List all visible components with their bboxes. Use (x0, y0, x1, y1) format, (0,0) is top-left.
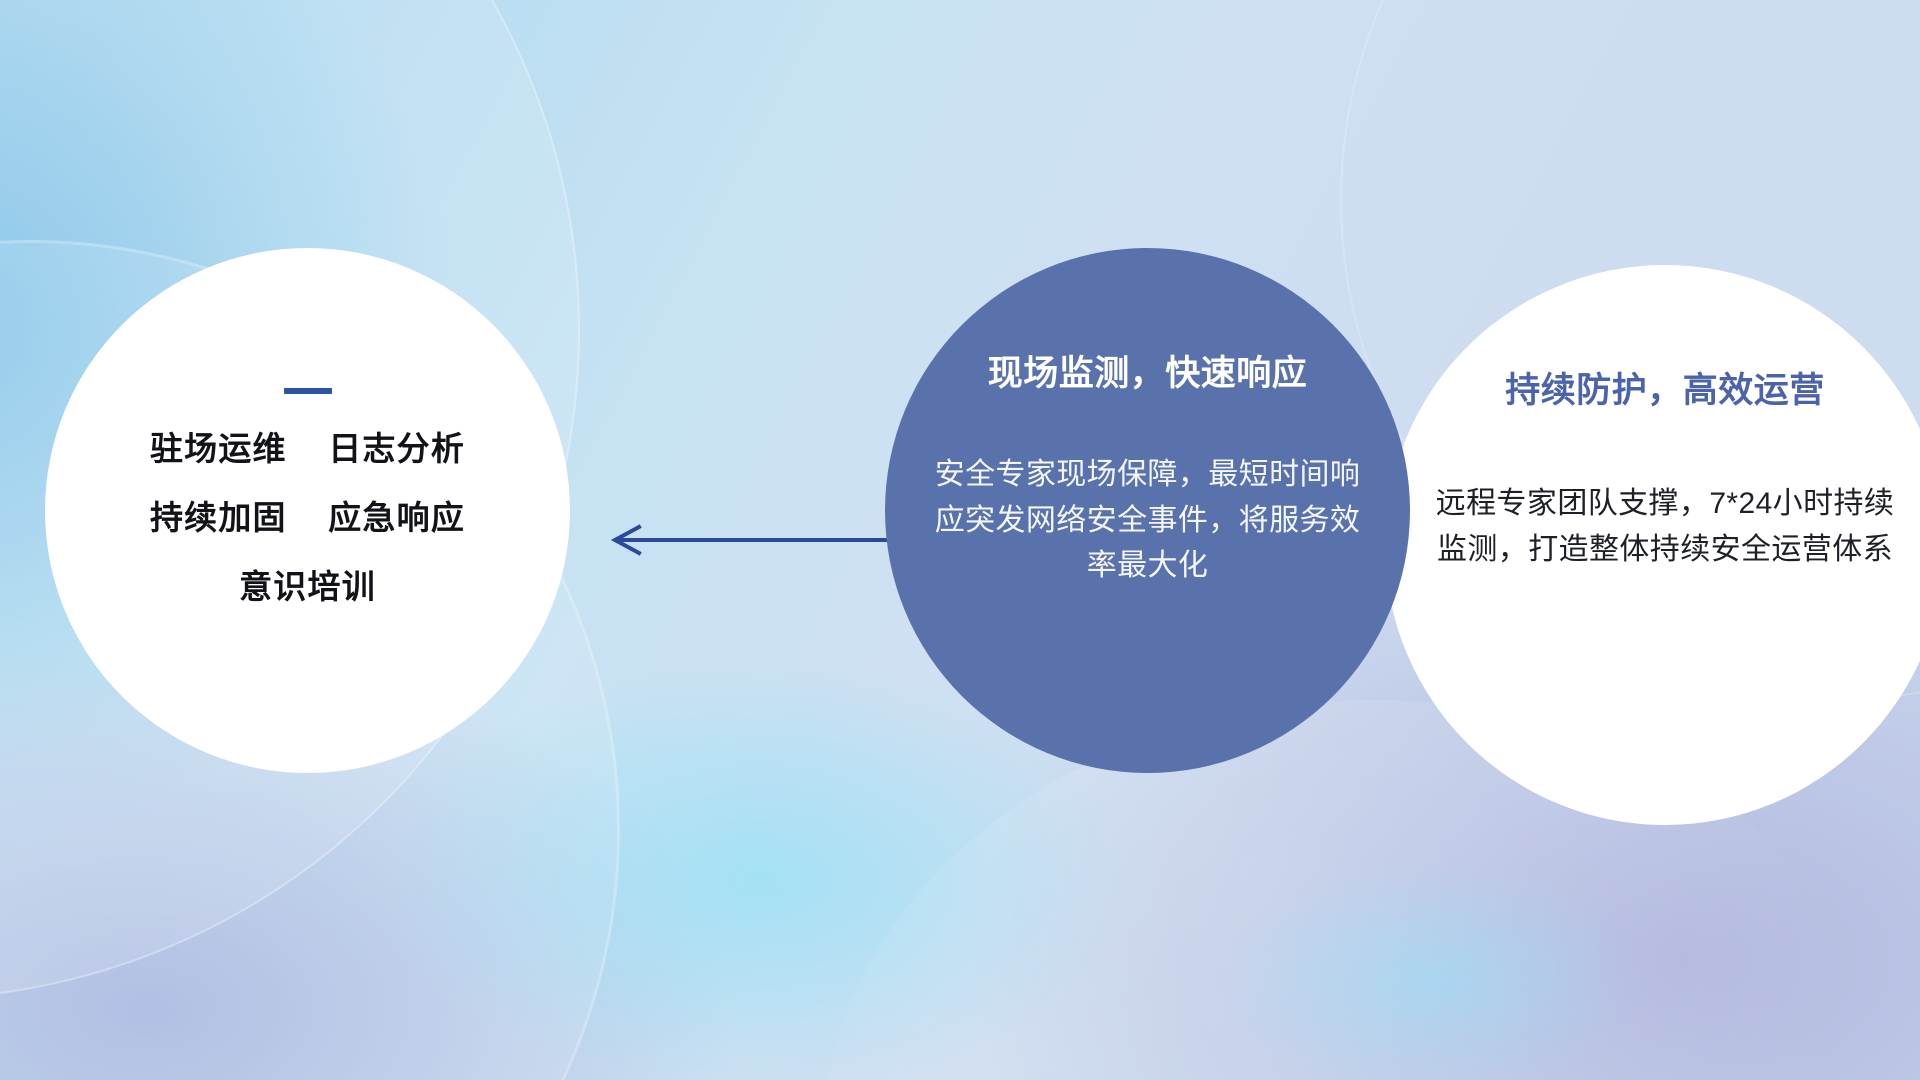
keyword-row: 驻场运维 日志分析 (45, 432, 570, 465)
right-card-body: 远程专家团队支撑，7*24小时持续监测，打造整体持续安全运营体系 (1431, 481, 1899, 572)
keyword-row: 持续加固 应急响应 (45, 501, 570, 534)
capability-circle-middle[interactable]: 现场监测，快速响应 安全专家现场保障，最短时间响应突发网络安全事件，将服务效率最… (885, 248, 1410, 773)
middle-card-body: 安全专家现场保障，最短时间响应突发网络安全事件，将服务效率最大化 (903, 452, 1392, 589)
right-card-heading: 持续防护，高效运营 (1431, 362, 1899, 413)
slide-canvas: 驻场运维 日志分析 持续加固 应急响应 意识培训 持续防护，高效运营 远程专家团… (0, 0, 1920, 1080)
capability-circle-left-content: 驻场运维 日志分析 持续加固 应急响应 意识培训 (45, 248, 570, 603)
capability-circle-middle-content: 现场监测，快速响应 安全专家现场保障，最短时间响应突发网络安全事件，将服务效率最… (885, 248, 1410, 589)
capability-circle-right[interactable]: 持续防护，高效运营 远程专家团队支撑，7*24小时持续监测，打造整体持续安全运营… (1385, 265, 1920, 825)
capability-circle-right-content: 持续防护，高效运营 远程专家团队支撑，7*24小时持续监测，打造整体持续安全运营… (1385, 265, 1920, 572)
keyword-row: 意识培训 (45, 570, 570, 603)
connector-arrow-icon (605, 520, 905, 560)
accent-divider-rule (284, 388, 332, 394)
capability-circle-left[interactable]: 驻场运维 日志分析 持续加固 应急响应 意识培训 (45, 248, 570, 773)
middle-card-heading: 现场监测，快速响应 (903, 345, 1392, 396)
